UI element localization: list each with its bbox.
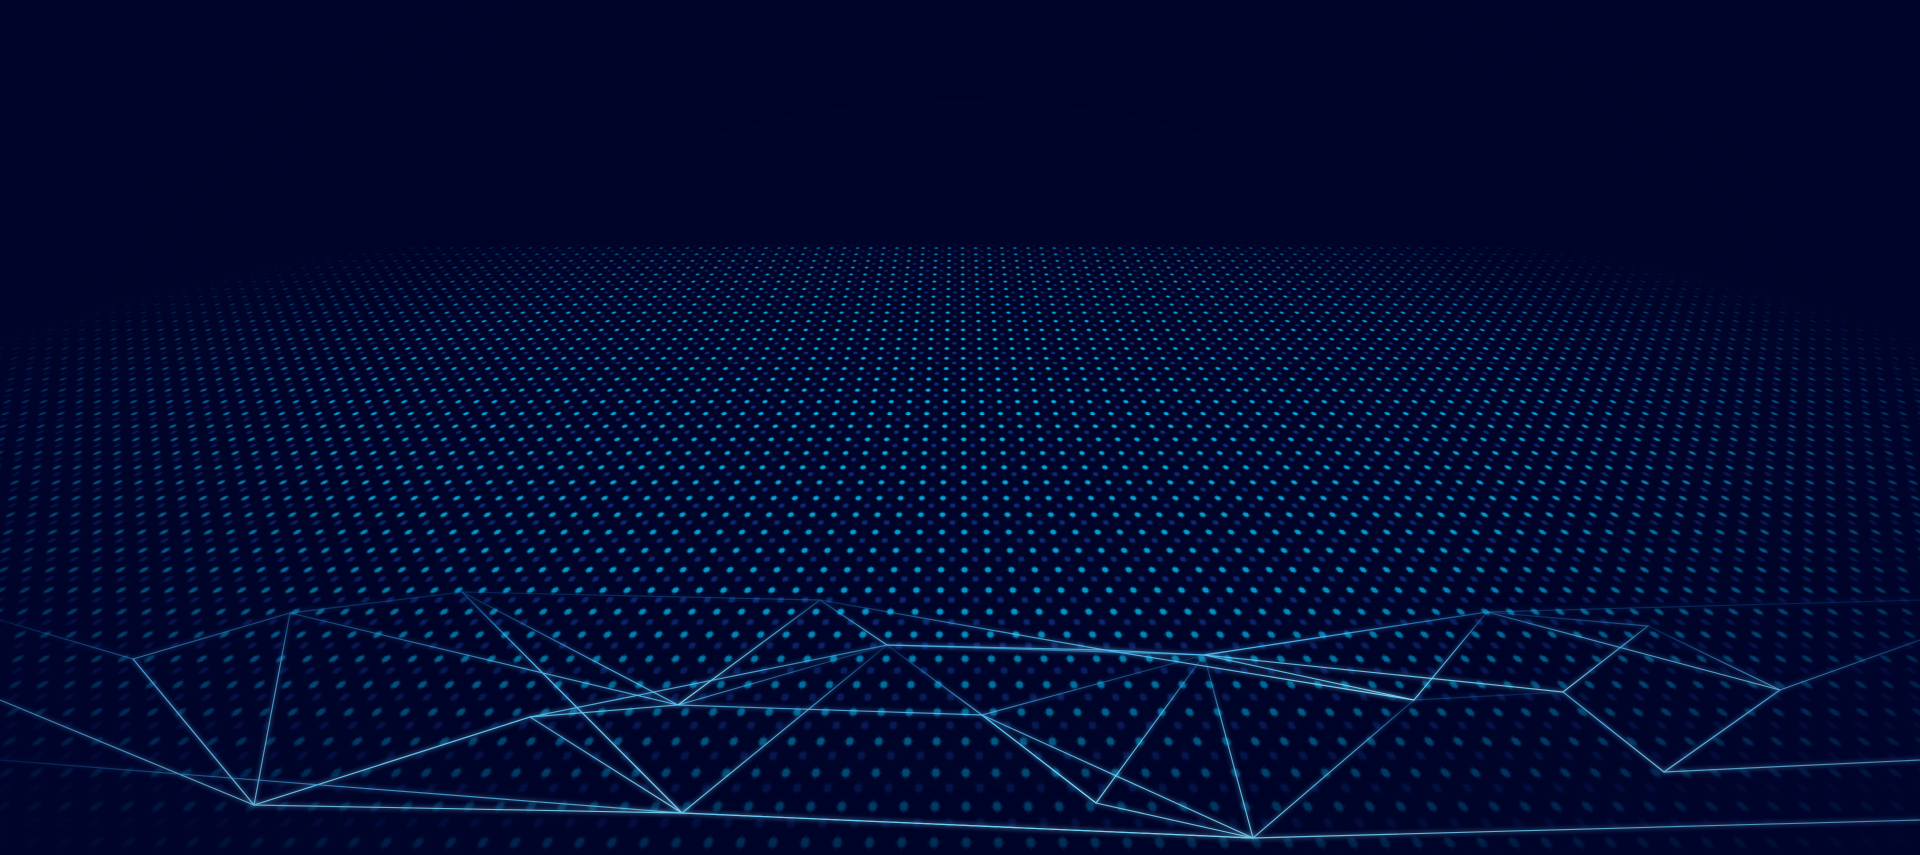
- network-edges: [0, 592, 1920, 838]
- global-sales-banner: [0, 0, 1920, 855]
- world-map-stage: [0, 245, 1920, 855]
- background-bar-chart: [0, 295, 1920, 625]
- world-map-dot-grid: [0, 245, 1920, 855]
- headline-block: [0, 128, 1920, 152]
- world-map-dot-grid-dim: [0, 245, 1920, 855]
